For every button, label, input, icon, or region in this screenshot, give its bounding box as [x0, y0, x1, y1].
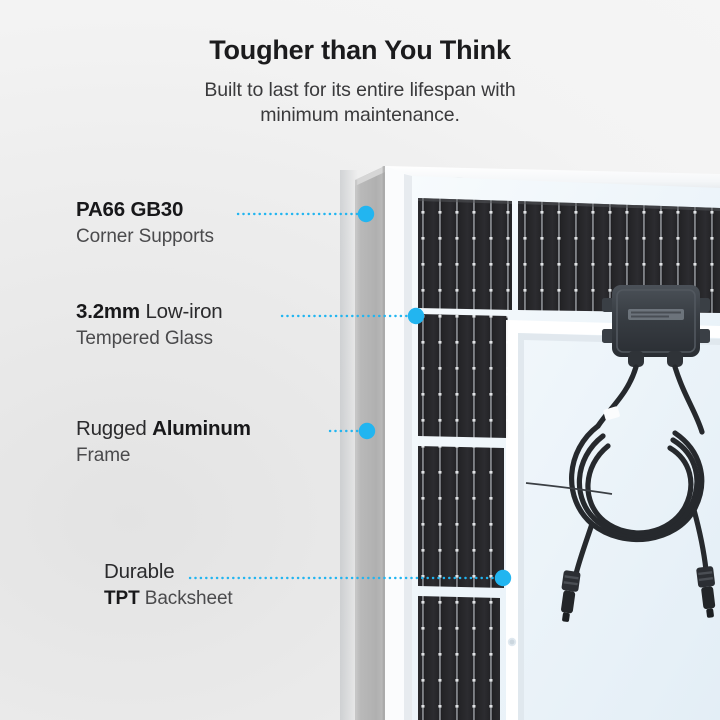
- callout-2-line-1: 3.2mm Low-iron: [76, 300, 222, 324]
- callout-4-line2-rest: Backsheet: [140, 588, 233, 609]
- callout-dot-tempered-glass[interactable]: [408, 308, 424, 324]
- callout-corner-supports: PA66 GB30 Corner Supports: [76, 198, 214, 250]
- callout-aluminum-frame: Rugged Aluminum Frame: [76, 417, 251, 469]
- callout-1-bold: PA66 GB30: [76, 198, 183, 221]
- callout-1-line2-rest: Corner Supports: [76, 226, 214, 247]
- callout-tempered-glass: 3.2mm Low-iron Tempered Glass: [76, 300, 222, 352]
- callout-4-line-1: Durable: [104, 560, 233, 584]
- callout-leader-lines: [0, 0, 720, 720]
- callout-tpt-backsheet: Durable TPT Backsheet: [104, 560, 233, 612]
- callout-4-bold: TPT: [104, 588, 140, 609]
- callout-1-line-1: PA66 GB30: [76, 198, 214, 222]
- callout-3-rest: Rugged: [76, 417, 152, 440]
- callout-1-line-2: Corner Supports: [76, 225, 214, 250]
- callout-dot-aluminum-frame[interactable]: [359, 423, 375, 439]
- callout-2-line-2: Tempered Glass: [76, 327, 222, 352]
- callout-4-rest: Durable: [104, 560, 174, 583]
- callout-3-line2-rest: Frame: [76, 445, 130, 466]
- callout-3-bold: Aluminum: [152, 417, 251, 440]
- callout-2-rest: Low-iron: [140, 300, 223, 323]
- callout-2-bold: 3.2mm: [76, 300, 140, 323]
- callout-3-line-1: Rugged Aluminum: [76, 417, 251, 441]
- callout-dot-corner-supports[interactable]: [358, 206, 374, 222]
- infographic-canvas: Tougher than You Think Built to last for…: [0, 0, 720, 720]
- callout-2-line2-rest: Tempered Glass: [76, 328, 213, 349]
- callout-4-line-2: TPT Backsheet: [104, 587, 233, 612]
- callout-3-line-2: Frame: [76, 444, 251, 469]
- callout-dot-tpt-backsheet[interactable]: [495, 570, 511, 586]
